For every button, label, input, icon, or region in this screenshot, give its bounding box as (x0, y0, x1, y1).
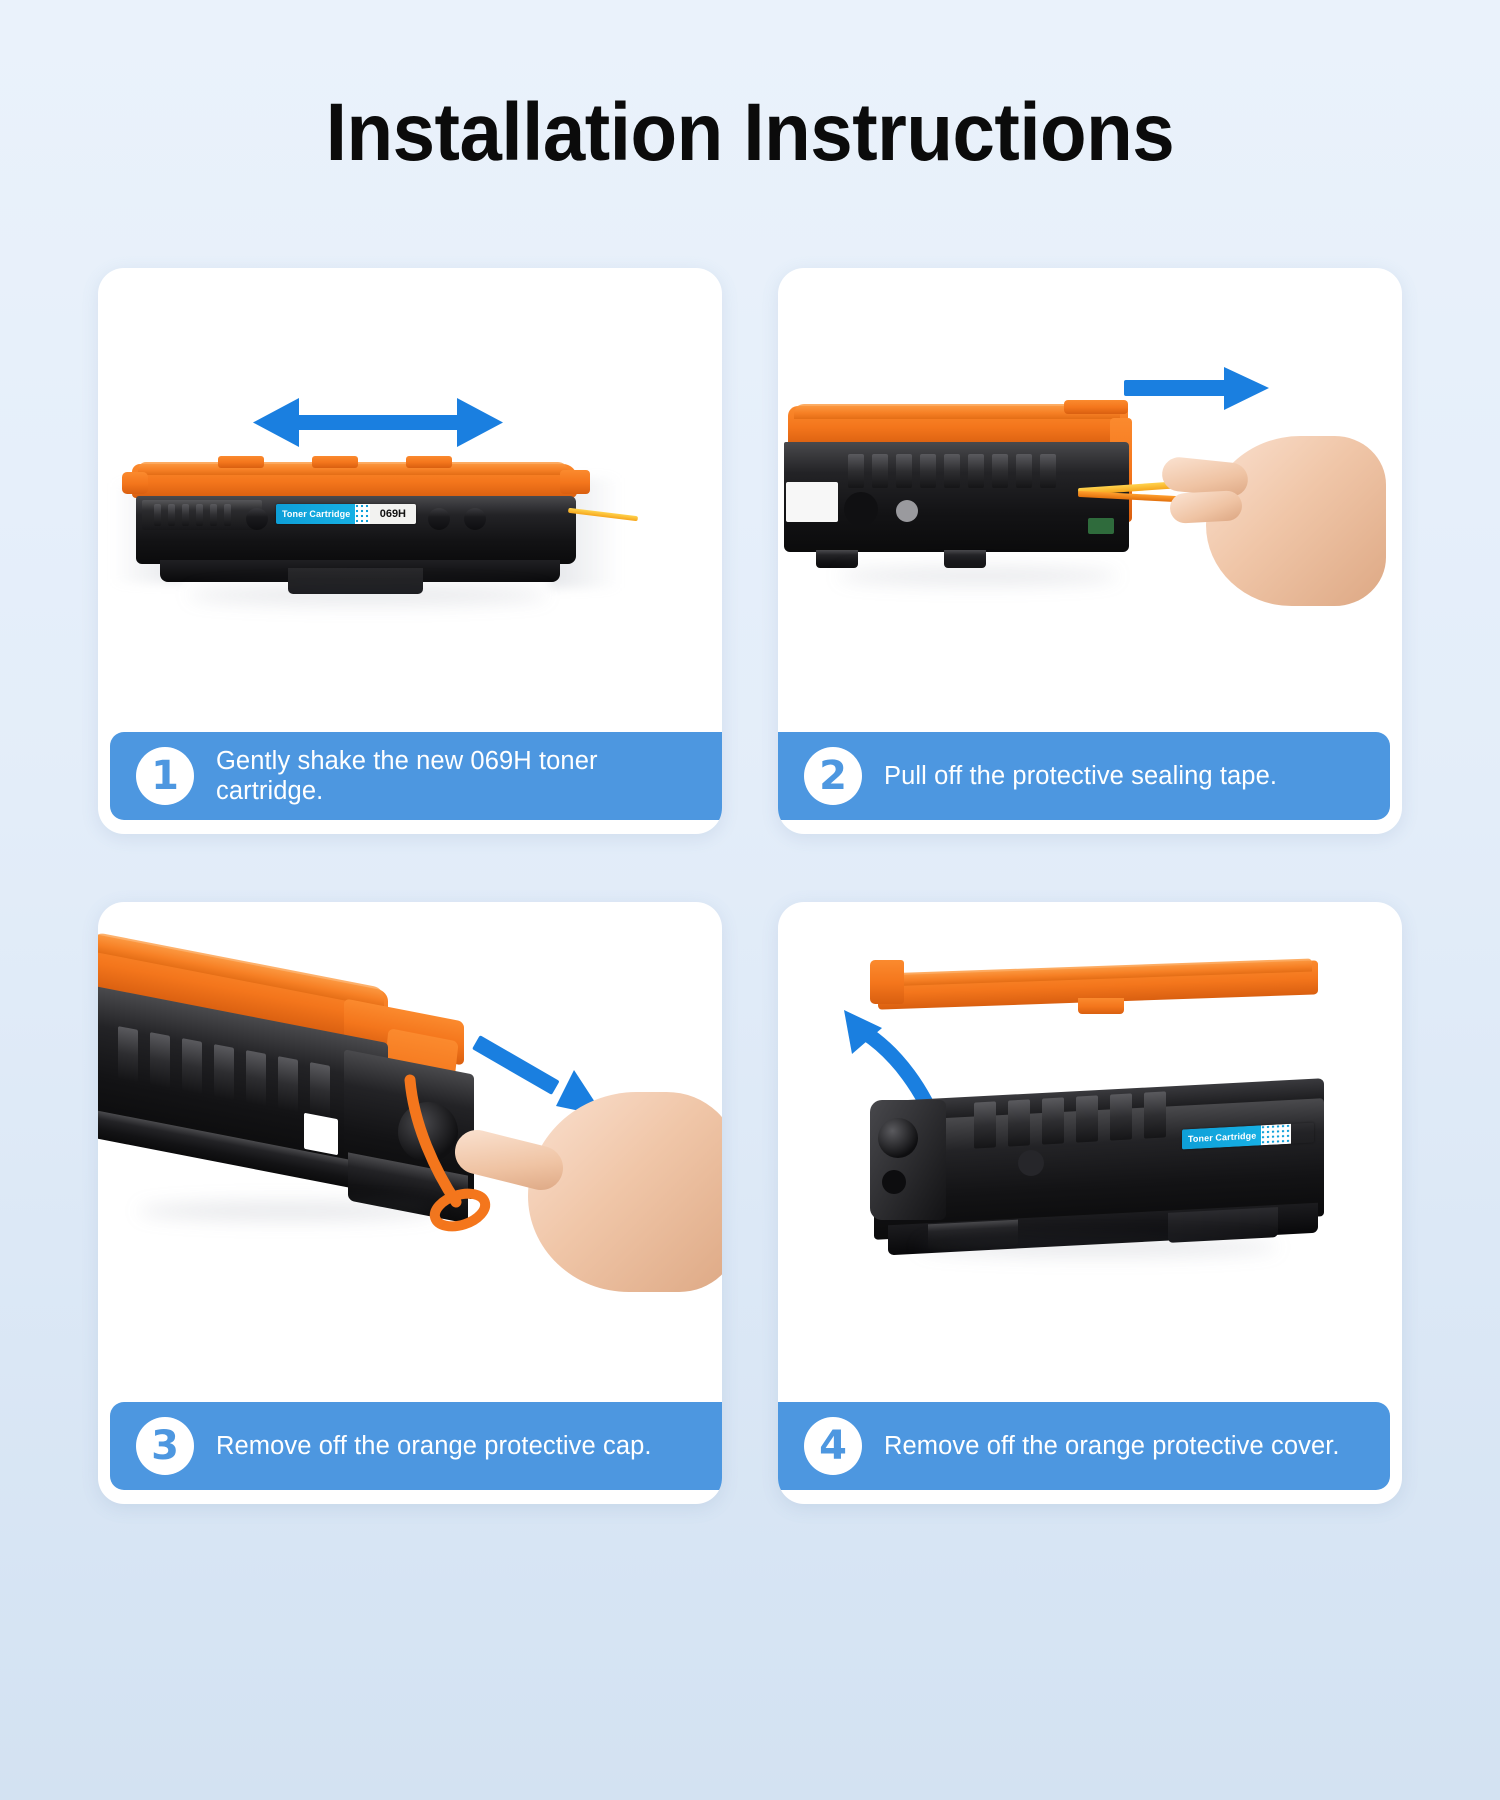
cartridge-orange-right-tab (560, 470, 590, 494)
cartridge-port-hole (844, 492, 878, 526)
label-brand-text: Toner Cartridge (276, 504, 355, 524)
cartridge-rib (1008, 1099, 1030, 1146)
page-title: Installation Instructions (53, 0, 1448, 174)
cartridge-rib (196, 504, 203, 526)
cartridge-rib (1016, 454, 1032, 488)
label-dot-pattern (355, 504, 369, 524)
cartridge-notch-b (312, 456, 358, 468)
step-4-caption: 4 Remove off the orange protective cover… (778, 1402, 1390, 1490)
cartridge-rib (1110, 1093, 1132, 1140)
cartridge-rib (920, 454, 936, 488)
cartridge-rib (944, 454, 960, 488)
cartridge-rib (150, 1032, 170, 1088)
cartridge-gear-cap (896, 500, 918, 522)
drop-shadow (918, 1238, 1278, 1256)
cartridge-white-wedge (304, 1113, 338, 1156)
orange-cover-tab (1078, 998, 1124, 1014)
cartridge-drum-hub (878, 1118, 918, 1158)
cartridge-product-label: Toner Cartridge 069H (276, 504, 416, 524)
hand (1206, 436, 1386, 606)
step-1-caption: 1 Gently shake the new 069H toner cartri… (110, 732, 722, 820)
cartridge-notch-a (218, 456, 264, 468)
cartridge-rib (1076, 1095, 1098, 1142)
cartridge-rib (214, 1044, 234, 1100)
cartridge-drum-pin (882, 1170, 906, 1194)
step-card-4: Toner Cartridge 4 Remove off the orange … (778, 902, 1402, 1504)
drop-shadow (188, 586, 548, 604)
drop-shadow (138, 1202, 438, 1220)
cartridge-gear-cap (1018, 1150, 1044, 1176)
cartridge-rib (974, 1101, 996, 1148)
step-card-3: 3 Remove off the orange protective cap. (98, 902, 722, 1504)
cartridge-rib (118, 1026, 138, 1082)
cartridge-rib (1040, 454, 1056, 488)
cartridge-rib (182, 504, 189, 526)
step-2-caption-text: Pull off the protective sealing tape. (884, 761, 1277, 791)
cartridge-orange-top-tab (1064, 400, 1128, 414)
label-brand-text: Toner Cartridge (1182, 1125, 1261, 1149)
cartridge-notch-c (406, 456, 452, 468)
orange-cover-end-clip (870, 960, 904, 1004)
step-card-2: 2 Pull off the protective sealing tape. (778, 268, 1402, 834)
cartridge-rib (1042, 1097, 1064, 1144)
label-model-text: 069H (370, 504, 416, 524)
cartridge-rib (168, 504, 175, 526)
cartridge-foot-right (1168, 1207, 1278, 1243)
cartridge-gear-cap (464, 508, 486, 530)
cartridge-rib (278, 1056, 298, 1112)
cartridge-rib (968, 454, 984, 488)
step-3-caption-text: Remove off the orange protective cap. (216, 1431, 652, 1461)
cartridge-chip (1088, 518, 1114, 534)
step-2-number-badge: 2 (804, 747, 862, 805)
steps-grid: Toner Cartridge 069H 1 Gently shake the … (0, 268, 1500, 1504)
cartridge-foot (816, 550, 858, 568)
label-dot-pattern (1261, 1124, 1291, 1146)
cartridge-orange-left-tab (122, 472, 148, 494)
cartridge-rib (1144, 1091, 1166, 1138)
step-4-number-badge: 4 (804, 1417, 862, 1475)
cartridge-rib (154, 504, 161, 526)
cartridge-rib (896, 454, 912, 488)
cartridge-gear-cap (246, 508, 268, 530)
step-1-caption-text: Gently shake the new 069H toner cartridg… (216, 746, 704, 806)
cartridge-drum-end (870, 1100, 946, 1220)
thumb (1169, 490, 1242, 524)
cartridge-rib (224, 504, 231, 526)
cartridge-rib (872, 454, 888, 488)
cartridge-gear-cap (428, 508, 450, 530)
cartridge-rib (992, 454, 1008, 488)
step-4-caption-text: Remove off the orange protective cover. (884, 1431, 1340, 1461)
step-2-caption: 2 Pull off the protective sealing tape. (778, 732, 1390, 820)
cartridge-rib (182, 1038, 202, 1094)
cartridge-white-block (786, 482, 838, 522)
drop-shadow (838, 568, 1118, 584)
step-card-1: Toner Cartridge 069H 1 Gently shake the … (98, 268, 722, 834)
step-3-caption: 3 Remove off the orange protective cap. (110, 1402, 722, 1490)
cartridge-rib (848, 454, 864, 488)
step-1-number-badge: 1 (136, 747, 194, 805)
cartridge-foot (944, 550, 986, 568)
cartridge-rib (246, 1050, 266, 1106)
cartridge-rib (310, 1062, 330, 1118)
step-3-number-badge: 3 (136, 1417, 194, 1475)
double-headed-horizontal-arrow-icon (253, 393, 503, 453)
cartridge-rib (210, 504, 217, 526)
right-arrow-icon (1124, 366, 1269, 412)
